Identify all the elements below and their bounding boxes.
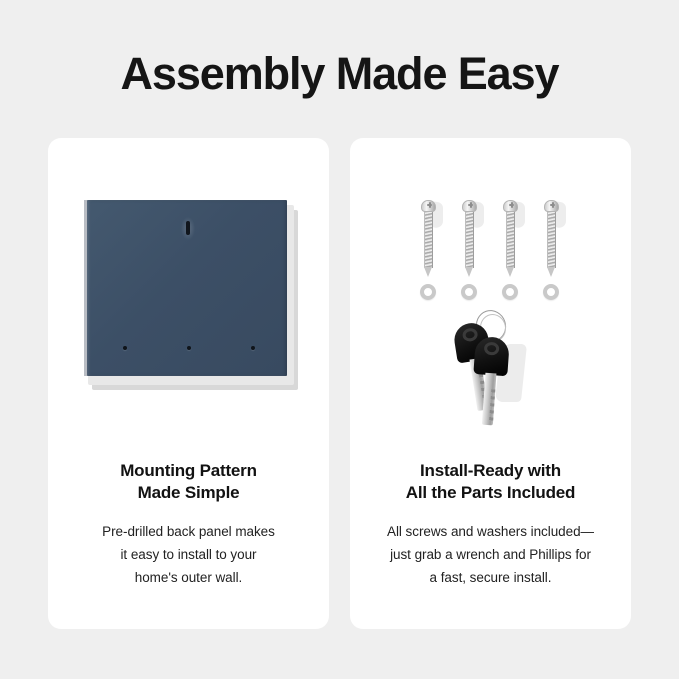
key-bow [473,336,510,376]
card-body-line3: home's outer wall. [135,570,242,585]
card-body-line1: Pre-drilled back panel makes [102,524,275,539]
card-text-block: Mounting Pattern Made Simple Pre-drilled… [62,460,315,589]
screw-shaft [506,211,515,268]
product-image-hardware [350,138,631,438]
screw-tip [465,267,473,277]
key-bow-hole [462,327,479,342]
card-heading-line1: Mounting Pattern [120,461,257,480]
key-blade [482,373,497,426]
feature-card-mounting-pattern: Mounting Pattern Made Simple Pre-drilled… [48,138,329,629]
washer-icon [420,284,436,300]
screw-shaft [424,211,433,268]
screw-head [503,200,518,212]
back-panel-illustration [84,200,299,390]
screw-slot [429,202,431,208]
screw-slot [511,202,513,208]
screw-tip [424,267,432,277]
screw-head [421,200,436,212]
keys-illustration [446,310,536,415]
screw-head [462,200,477,212]
card-text-block: Install-Ready with All the Parts Include… [364,460,617,589]
screw-icon [421,200,436,278]
washer-icon [461,284,477,300]
screw-head [544,200,559,212]
key-bow-hole [484,342,500,356]
panel-face [87,200,287,376]
card-heading: Install-Ready with All the Parts Include… [364,460,617,504]
card-heading-line1: Install-Ready with [420,461,561,480]
card-heading-line2: All the Parts Included [406,483,575,502]
washer-icon [543,284,559,300]
keyhole-slot-icon [186,221,190,235]
product-image-back-panel [48,138,329,438]
drill-hole-icon [187,346,191,350]
key-teeth [489,389,495,423]
screw-tip [506,267,514,277]
card-body-line2: just grab a wrench and Phillips for [390,547,591,562]
screw-slot [552,202,554,208]
card-body-line3: a fast, secure install. [430,570,552,585]
infographic-page: Assembly Made Easy Mounting Pattern Mad [0,0,679,679]
washer-icon [502,284,518,300]
card-body-line2: it easy to install to your [120,547,256,562]
page-title: Assembly Made Easy [0,46,679,102]
screw-icon [544,200,559,278]
card-heading-line2: Made Simple [138,483,240,502]
screw-icon [503,200,518,278]
card-body-line1: All screws and washers included— [387,524,594,539]
drill-hole-icon [251,346,255,350]
screw-icon [462,200,477,278]
feature-card-install-ready: Install-Ready with All the Parts Include… [350,138,631,629]
card-heading: Mounting Pattern Made Simple [62,460,315,504]
screw-tip [547,267,555,277]
screw-shaft [547,211,556,268]
screw-shaft [465,211,474,268]
card-body: All screws and washers included— just gr… [364,520,617,589]
card-body: Pre-drilled back panel makes it easy to … [62,520,315,589]
drill-hole-icon [123,346,127,350]
screw-slot [470,202,472,208]
